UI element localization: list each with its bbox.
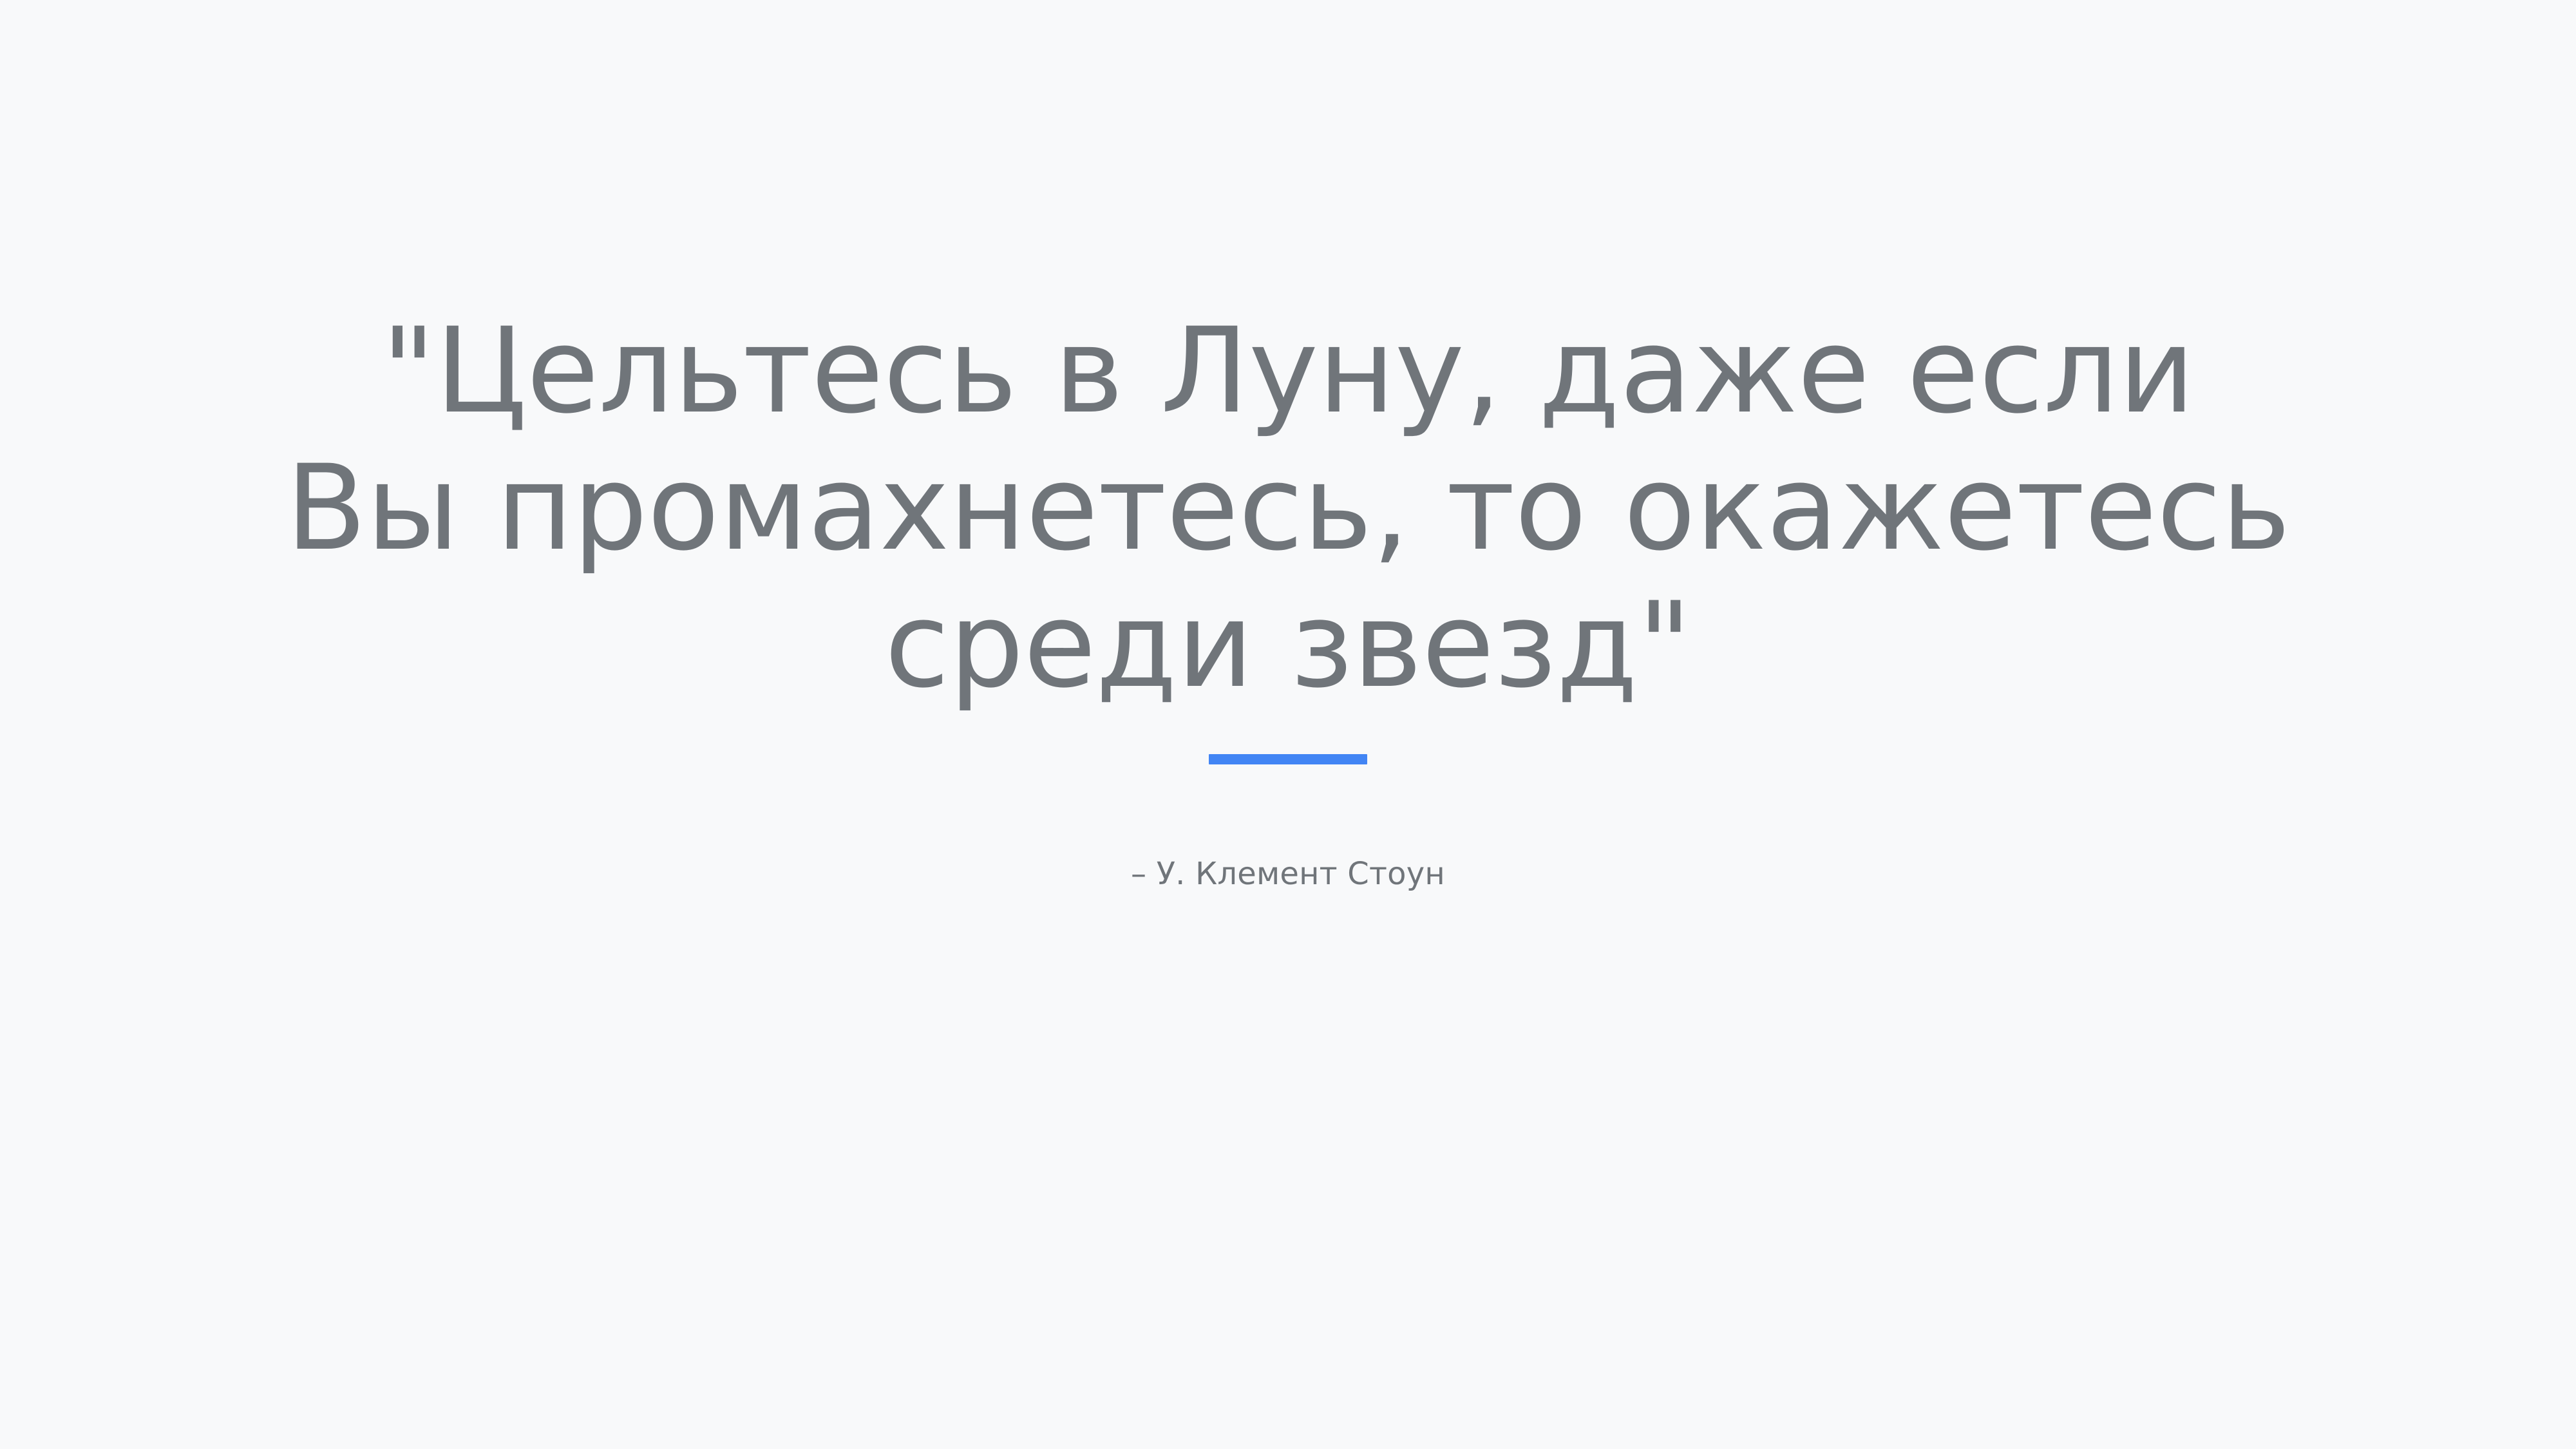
quote-body: "Цельтесь в Луну, даже если Вы промахнет… bbox=[283, 303, 2293, 714]
quote-attribution: – У. Клемент Стоун bbox=[1131, 764, 1445, 893]
quote-content-stack: "Цельтесь в Луну, даже если Вы промахнет… bbox=[0, 0, 2576, 893]
quote-card: "Цельтесь в Луну, даже если Вы промахнет… bbox=[0, 0, 2576, 1449]
accent-rule-icon bbox=[1209, 754, 1367, 764]
divider-container bbox=[0, 754, 2576, 764]
